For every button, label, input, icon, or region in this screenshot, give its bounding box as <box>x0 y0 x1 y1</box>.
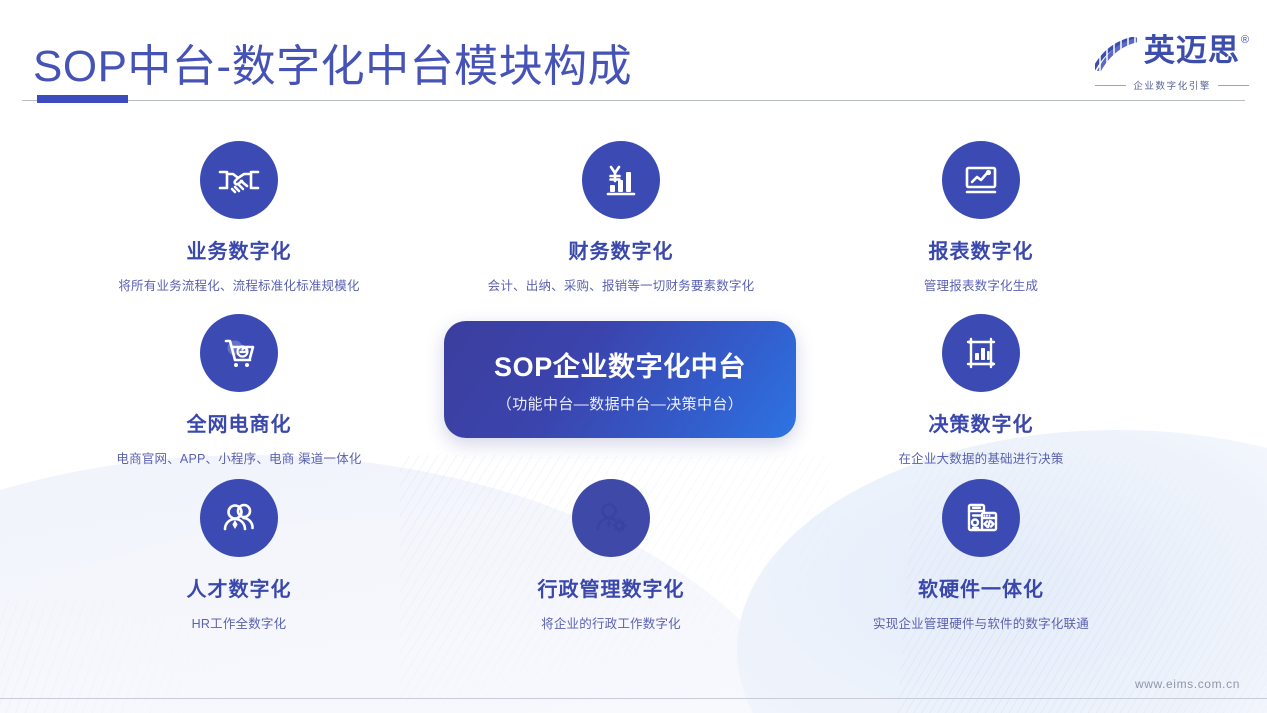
module-card-ecommerce[interactable]: 全网电商化 电商官网、APP、小程序、电商 渠道一体化 <box>89 314 389 467</box>
shopping-cart-ecommerce-icon <box>200 314 278 392</box>
module-title: 人才数字化 <box>89 573 389 602</box>
center-card-title: SOP企业数字化中台 <box>494 345 746 384</box>
logo-mark-icon <box>1095 37 1137 71</box>
module-card-finance[interactable]: 财务数字化 会计、出纳、采购、报销等一切财务要素数字化 <box>471 141 771 294</box>
footer-website-url: www.eims.com.cn <box>1135 677 1240 691</box>
server-code-window-icon <box>942 479 1020 557</box>
module-title: 报表数字化 <box>831 235 1131 264</box>
module-desc: 将企业的行政工作数字化 <box>461 613 761 632</box>
module-desc: 将所有业务流程化、流程标准化标准规模化 <box>89 275 389 294</box>
module-card-admin[interactable]: 行政管理数字化 将企业的行政工作数字化 <box>461 479 761 632</box>
logo-registered-mark: ® <box>1241 34 1249 46</box>
module-card-decision[interactable]: 决策数字化 在企业大数据的基础进行决策 <box>831 314 1131 467</box>
module-card-hardware-software[interactable]: 软硬件一体化 实现企业管理硬件与软件的数字化联通 <box>831 479 1131 632</box>
page-title: SOP中台-数字化中台模块构成 <box>33 30 632 94</box>
module-title: 决策数字化 <box>831 408 1131 437</box>
module-card-talent[interactable]: 人才数字化 HR工作全数字化 <box>89 479 389 632</box>
module-title: 财务数字化 <box>471 235 771 264</box>
module-desc: 电商官网、APP、小程序、电商 渠道一体化 <box>89 448 389 467</box>
logo-tagline: 企业数字化引擎 <box>1133 78 1211 92</box>
center-card-subtitle: （功能中台—数据中台—决策中台） <box>497 393 743 414</box>
module-desc: HR工作全数字化 <box>89 613 389 632</box>
yen-bar-chart-icon <box>582 141 660 219</box>
monitor-chart-icon <box>942 141 1020 219</box>
module-title: 软硬件一体化 <box>831 573 1131 602</box>
logo-tagline-rule-right <box>1218 85 1249 86</box>
module-desc: 会计、出纳、采购、报销等一切财务要素数字化 <box>471 275 771 294</box>
logo-tagline-row: 企业数字化引擎 <box>1057 78 1249 92</box>
header-divider <box>22 100 1245 101</box>
module-card-business[interactable]: 业务数字化 将所有业务流程化、流程标准化标准规模化 <box>89 141 389 294</box>
data-bar-frame-icon <box>942 314 1020 392</box>
logo-company-name: 英迈思 <box>1144 34 1240 68</box>
module-desc: 在企业大数据的基础进行决策 <box>831 448 1131 467</box>
handshake-icon <box>200 141 278 219</box>
logo-main-row: 英迈思 ® <box>1057 34 1249 71</box>
company-logo: 英迈思 ® 企业数字化引擎 <box>1057 34 1249 96</box>
title-underline-accent <box>37 95 128 103</box>
module-title: 全网电商化 <box>89 408 389 437</box>
module-title: 行政管理数字化 <box>461 573 761 602</box>
logo-tagline-rule-left <box>1095 85 1126 86</box>
module-card-report[interactable]: 报表数字化 管理报表数字化生成 <box>831 141 1131 294</box>
person-gear-icon <box>572 479 650 557</box>
footer-divider <box>0 698 1267 699</box>
slide-root: SOP中台-数字化中台模块构成 <box>0 0 1267 713</box>
module-desc: 实现企业管理硬件与软件的数字化联通 <box>831 613 1131 632</box>
people-group-icon <box>200 479 278 557</box>
center-platform-card[interactable]: SOP企业数字化中台 （功能中台—数据中台—决策中台） <box>444 321 796 438</box>
slide-header: SOP中台-数字化中台模块构成 <box>0 0 1267 104</box>
module-title: 业务数字化 <box>89 235 389 264</box>
module-desc: 管理报表数字化生成 <box>831 275 1131 294</box>
